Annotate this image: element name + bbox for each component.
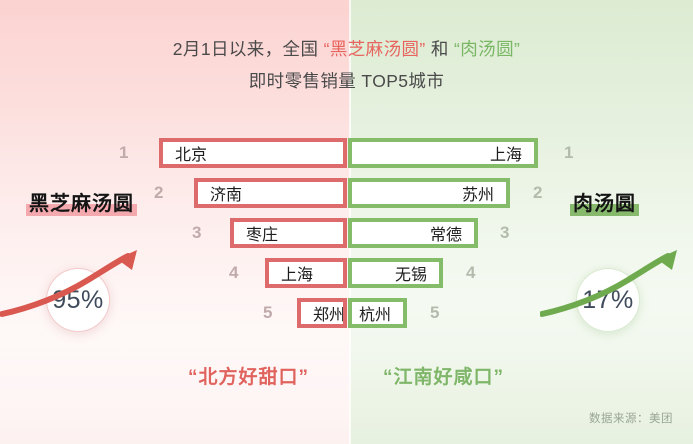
rank-label-left-1: 1 bbox=[119, 143, 128, 163]
bar-right-city-1: 上海 bbox=[490, 141, 522, 165]
bar-right-cap-2 bbox=[348, 178, 352, 208]
bar-left-city-5: 郑州 bbox=[313, 301, 345, 325]
series-label-black-sesame-text: 黑芝麻汤圆 bbox=[26, 191, 137, 217]
chart-row-1: 1 北京 上海 1 bbox=[0, 138, 693, 168]
rank-label-left-3: 3 bbox=[192, 223, 201, 243]
infographic-canvas: 2月1日以来，全国 “黑芝麻汤圆” 和 “肉汤圆” 即时零售销量 TOP5城市 … bbox=[0, 0, 693, 444]
bar-left-city-3: 枣庄 bbox=[246, 221, 278, 245]
rank-label-left-2: 2 bbox=[154, 183, 163, 203]
rank-label-right-5: 5 bbox=[430, 303, 439, 323]
bar-left-5[interactable]: 郑州 bbox=[297, 298, 347, 328]
bar-left-cap-3 bbox=[343, 218, 347, 248]
bar-left-2[interactable]: 济南 bbox=[194, 178, 347, 208]
butterfly-bar-chart: 1 北京 上海 1 2 济南 苏州 2 3 bbox=[0, 138, 693, 328]
bar-left-4[interactable]: 上海 bbox=[265, 258, 347, 288]
caption-north-sweet: “北方好甜口” bbox=[188, 362, 309, 389]
bar-left-cap-5 bbox=[343, 298, 347, 328]
bar-right-cap-3 bbox=[348, 218, 352, 248]
highlight-band-pink bbox=[26, 204, 137, 216]
bar-right-city-2: 苏州 bbox=[462, 181, 494, 205]
chart-row-5: 5 郑州 杭州 5 bbox=[0, 298, 693, 328]
bar-left-city-4: 上海 bbox=[281, 261, 313, 285]
bar-right-5[interactable]: 杭州 bbox=[352, 298, 407, 328]
bar-right-city-3: 常德 bbox=[430, 221, 462, 245]
bar-left-cap-2 bbox=[343, 178, 347, 208]
series-label-meat: 肉汤圆 bbox=[570, 191, 639, 217]
data-source-note: 数据来源：美团 bbox=[589, 410, 673, 426]
rank-label-right-3: 3 bbox=[500, 223, 509, 243]
bar-right-city-4: 无锡 bbox=[395, 261, 427, 285]
rank-label-right-4: 4 bbox=[466, 263, 475, 283]
chart-row-4: 4 上海 无锡 4 bbox=[0, 258, 693, 288]
bar-left-city-1: 北京 bbox=[175, 141, 207, 165]
bar-right-3[interactable]: 常德 bbox=[352, 218, 478, 248]
bar-left-3[interactable]: 枣庄 bbox=[230, 218, 347, 248]
bar-right-cap-5 bbox=[348, 298, 352, 328]
bar-left-cap-4 bbox=[343, 258, 347, 288]
bar-right-city-5: 杭州 bbox=[359, 301, 391, 325]
rank-label-left-4: 4 bbox=[229, 263, 238, 283]
caption-jiangnan-salty: “江南好咸口” bbox=[383, 362, 504, 389]
bar-right-cap-1 bbox=[348, 138, 352, 168]
bar-left-city-2: 济南 bbox=[210, 181, 242, 205]
bar-left-cap-1 bbox=[343, 138, 347, 168]
chart-row-3: 3 枣庄 常德 3 bbox=[0, 218, 693, 248]
bar-right-cap-4 bbox=[348, 258, 352, 288]
bar-right-2[interactable]: 苏州 bbox=[352, 178, 510, 208]
rank-label-left-5: 5 bbox=[263, 303, 272, 323]
rank-label-right-2: 2 bbox=[533, 183, 542, 203]
bar-right-4[interactable]: 无锡 bbox=[352, 258, 443, 288]
highlight-band-green bbox=[570, 204, 639, 216]
rank-label-right-1: 1 bbox=[564, 143, 573, 163]
bar-right-1[interactable]: 上海 bbox=[352, 138, 538, 168]
bar-left-1[interactable]: 北京 bbox=[159, 138, 347, 168]
series-label-meat-text: 肉汤圆 bbox=[570, 191, 639, 217]
series-label-black-sesame: 黑芝麻汤圆 bbox=[26, 191, 137, 217]
